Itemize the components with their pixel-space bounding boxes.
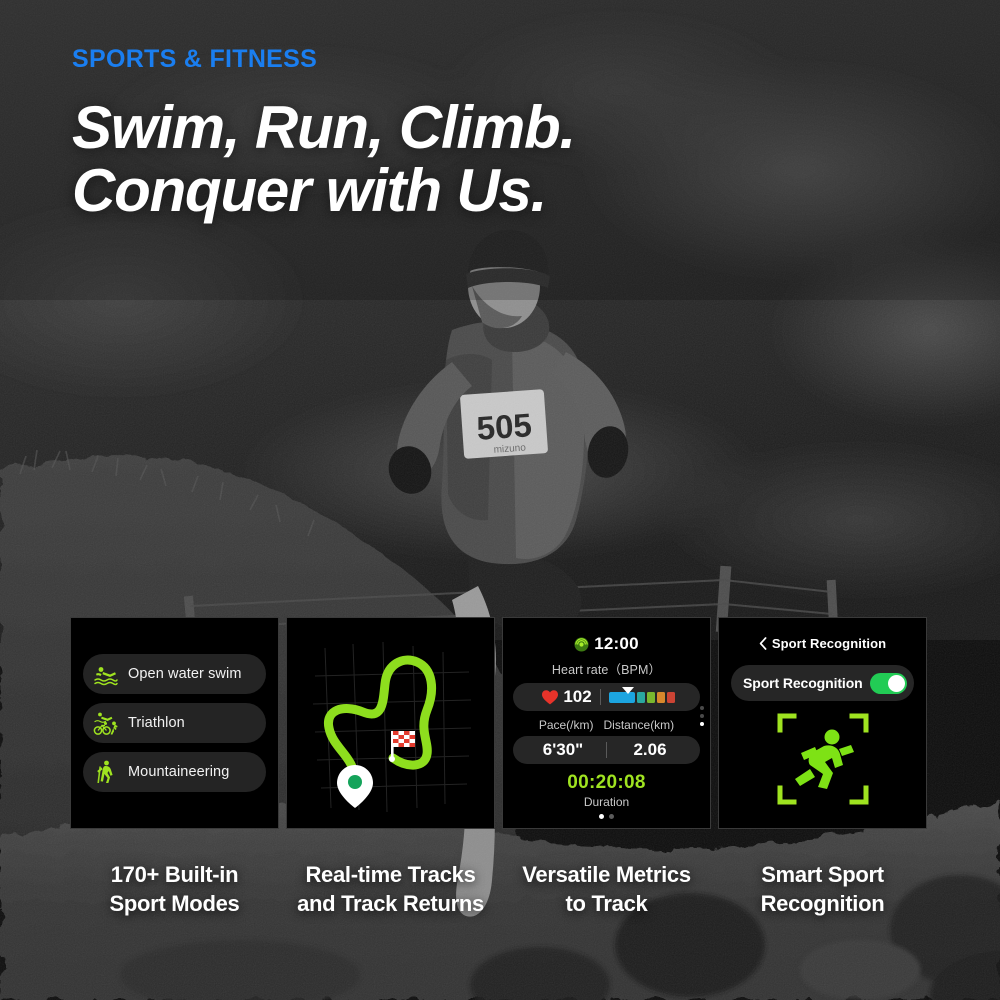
pace-distance-pill[interactable]: 6'30" 2.06	[513, 736, 700, 764]
sport-recognition-screen: Sport Recognition Sport Recognition	[719, 618, 926, 805]
sport-mode-item-triathlon[interactable]: Triathlon	[83, 703, 266, 743]
heart-rate-zone-bar	[609, 692, 675, 703]
caption-sport-recognition: Smart Sport Recognition	[718, 860, 927, 919]
gps-signal-icon	[574, 637, 589, 652]
heart-rate-value: 102	[563, 687, 591, 707]
hero-text-block: SPORTS & FITNESS Swim, Run, Climb. Conqu…	[72, 46, 575, 223]
duration-value: 00:20:08	[513, 772, 700, 794]
sport-recognition-setting-row[interactable]: Sport Recognition	[731, 665, 914, 701]
gps-track-map[interactable]	[287, 618, 494, 828]
caption-line-2: to Track	[502, 889, 711, 918]
page-dot-active	[599, 814, 604, 819]
pill-divider	[606, 742, 607, 758]
eyebrow-label: SPORTS & FITNESS	[72, 46, 575, 74]
status-row: 12:00	[513, 634, 700, 654]
caption-line-1: 170+ Built-in	[70, 860, 279, 889]
scroll-dot	[700, 706, 704, 710]
zone-segment-3	[647, 692, 655, 703]
swimmer-icon	[93, 661, 119, 687]
sport-mode-label: Mountaineering	[128, 764, 229, 780]
sport-mode-item-open-water-swim[interactable]: Open water swim	[83, 654, 266, 694]
duration-label: Duration	[513, 795, 700, 809]
heart-icon	[542, 690, 558, 705]
distance-label: Distance(km)	[604, 718, 675, 732]
caption-line-2: and Track Returns	[286, 889, 495, 918]
sport-mode-list: Open water swim	[71, 618, 278, 792]
screen-header: Sport Recognition	[731, 636, 914, 651]
metrics-screen: 12:00 Heart rate（BPM） 102	[503, 618, 710, 819]
caption-line-1: Versatile Metrics	[502, 860, 711, 889]
caption-line-1: Smart Sport	[718, 860, 927, 889]
card-sport-modes: Open water swim	[70, 617, 279, 829]
pill-divider	[600, 689, 601, 705]
caption-realtime-track: Real-time Tracks and Track Returns	[286, 860, 495, 919]
sport-mode-item-mountaineering[interactable]: Mountaineering	[83, 752, 266, 792]
caption-line-2: Sport Modes	[70, 889, 279, 918]
pace-value: 6'30"	[532, 740, 594, 760]
setting-label: Sport Recognition	[743, 675, 863, 691]
distance-value: 2.06	[619, 740, 681, 760]
toggle-knob	[888, 675, 905, 692]
scroll-dot	[700, 714, 704, 718]
sport-mode-label: Open water swim	[128, 666, 242, 682]
scroll-dot-active	[700, 722, 704, 726]
caption-versatile-metrics: Versatile Metrics to Track	[502, 860, 711, 919]
caption-line-1: Real-time Tracks	[286, 860, 495, 889]
pace-distance-labels: Pace(/km) Distance(km)	[513, 718, 700, 732]
page-title: Swim, Run, Climb. Conquer with Us.	[72, 96, 575, 223]
feature-card-row: Open water swim	[70, 617, 934, 829]
heart-rate-value-group: 102	[538, 687, 591, 707]
page-dot	[609, 814, 614, 819]
caption-line-2: Recognition	[718, 889, 927, 918]
zone-segment-4	[657, 692, 665, 703]
zone-marker-icon	[622, 687, 634, 694]
headline-line-2: Conquer with Us.	[72, 159, 575, 223]
recognition-graphic	[731, 713, 914, 805]
triathlon-icon	[93, 710, 119, 736]
card-realtime-track	[286, 617, 495, 829]
sport-recognition-toggle[interactable]	[870, 673, 907, 694]
screen-title: Sport Recognition	[772, 636, 886, 651]
zone-segment-5	[667, 692, 675, 703]
running-person-scan-icon	[777, 713, 869, 805]
page-indicator	[513, 814, 700, 819]
scroll-indicator[interactable]	[700, 706, 704, 726]
hiker-icon	[93, 759, 119, 785]
heart-rate-pill[interactable]: 102	[513, 683, 700, 711]
headline-line-1: Swim, Run, Climb.	[72, 94, 575, 161]
caption-row: 170+ Built-in Sport Modes Real-time Trac…	[70, 860, 934, 919]
sport-mode-label: Triathlon	[128, 715, 185, 731]
clock-label: 12:00	[594, 634, 638, 654]
pace-label: Pace(/km)	[539, 718, 594, 732]
card-sport-recognition: Sport Recognition Sport Recognition	[718, 617, 927, 829]
caption-sport-modes: 170+ Built-in Sport Modes	[70, 860, 279, 919]
card-versatile-metrics: 12:00 Heart rate（BPM） 102	[502, 617, 711, 829]
chevron-left-icon[interactable]	[759, 637, 767, 650]
heart-rate-label: Heart rate（BPM）	[513, 659, 700, 678]
zone-segment-2	[637, 692, 645, 703]
